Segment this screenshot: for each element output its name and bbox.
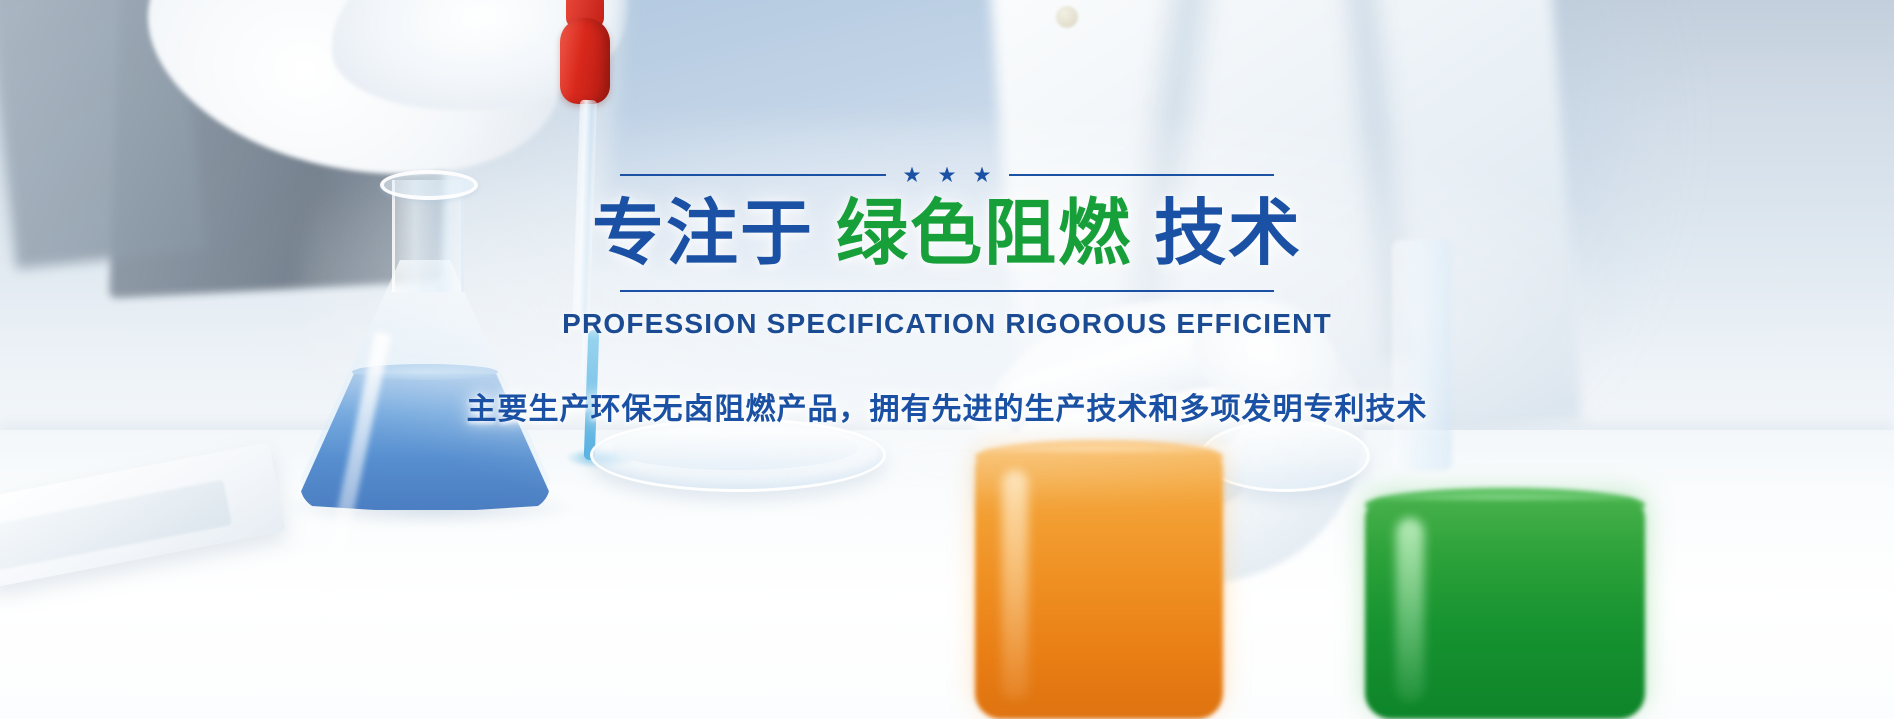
hero-banner: 专注于绿色阻燃技术 PROFESSION SPECIFICATION RIGOR…: [0, 0, 1894, 719]
divider-line-left: [620, 174, 886, 176]
star-icon: [939, 167, 956, 184]
banner-tagline: 主要生产环保无卤阻燃产品，拥有先进的生产技术和多项发明专利技术: [467, 384, 1428, 428]
banner-subtitle: PROFESSION SPECIFICATION RIGOROUS EFFICI…: [562, 308, 1332, 340]
star-group: [904, 167, 991, 184]
star-icon: [904, 167, 921, 184]
headline-part-one: 专注于: [592, 194, 814, 274]
headline-divider-bottom: [620, 290, 1274, 292]
page-title: 专注于绿色阻燃技术: [592, 198, 1302, 270]
banner-content: 专注于绿色阻燃技术 PROFESSION SPECIFICATION RIGOR…: [0, 0, 1894, 719]
headline-divider-top: [620, 168, 1274, 182]
star-icon: [974, 167, 991, 184]
divider-line-right: [1009, 174, 1275, 176]
headline-part-two: 绿色阻燃: [836, 194, 1132, 274]
headline-part-three: 技术: [1154, 194, 1302, 274]
